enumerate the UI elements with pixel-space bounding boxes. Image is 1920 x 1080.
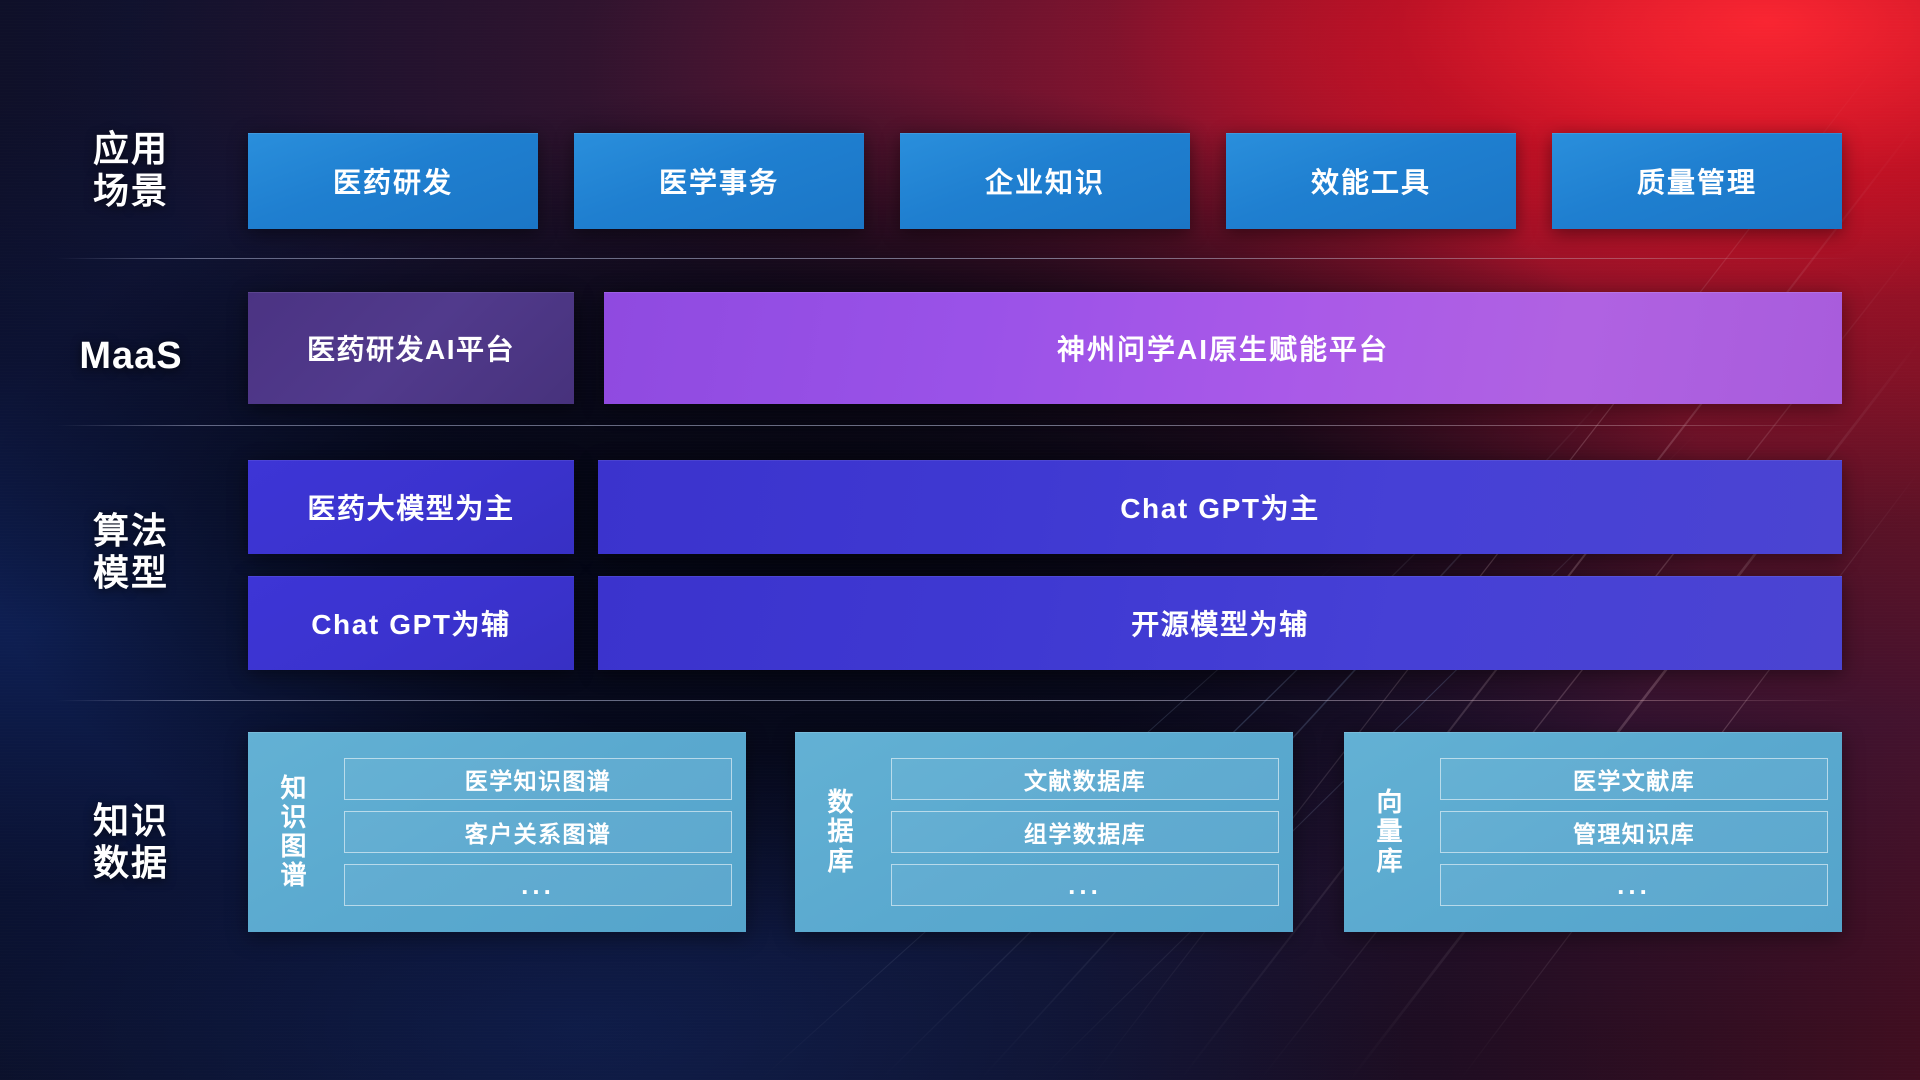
knowledge-panel-title-char: 库 — [1376, 847, 1403, 876]
maas-platform-label: 神州问学AI原生赋能平台 — [1057, 328, 1389, 368]
app-scenario-box[interactable]: 质量管理 — [1552, 133, 1842, 229]
divider-after-maas — [56, 425, 1856, 426]
knowledge-panel-title-char: 识 — [280, 803, 307, 832]
knowledge-panel[interactable]: 向 量 库 医学文献库 管理知识库 ... — [1344, 732, 1842, 932]
knowledge-panel-title-char: 向 — [1376, 788, 1403, 817]
row-label-line: 算法 — [56, 510, 206, 552]
knowledge-panel-title: 数 据 库 — [795, 732, 887, 932]
app-scenario-box[interactable]: 企业知识 — [900, 133, 1190, 229]
knowledge-panel-title-char: 量 — [1376, 817, 1403, 846]
knowledge-panel-items: 文献数据库 组学数据库 ... — [887, 732, 1293, 932]
knowledge-panel-title-char: 谱 — [280, 861, 307, 890]
row-label-application-scenarios: 应用 场景 — [56, 128, 206, 213]
row-label-line: 知识 — [56, 800, 206, 842]
knowledge-panel[interactable]: 数 据 库 文献数据库 组学数据库 ... — [795, 732, 1293, 932]
knowledge-panel-title-char: 库 — [827, 847, 854, 876]
maas-platform-label: 医药研发AI平台 — [307, 328, 515, 368]
app-scenario-label: 效能工具 — [1311, 161, 1431, 201]
knowledge-item[interactable]: 医学知识图谱 — [344, 758, 732, 800]
knowledge-panel-items: 医学文献库 管理知识库 ... — [1436, 732, 1842, 932]
knowledge-item[interactable]: 客户关系图谱 — [344, 811, 732, 853]
algorithm-box-secondary-right[interactable]: 开源模型为辅 — [598, 576, 1842, 670]
knowledge-panel[interactable]: 知 识 图 谱 医学知识图谱 客户关系图谱 ... — [248, 732, 746, 932]
knowledge-panel-title-char: 据 — [827, 817, 854, 846]
maas-platform-box-left[interactable]: 医药研发AI平台 — [248, 292, 574, 404]
row-label-knowledge-data: 知识 数据 — [56, 800, 206, 885]
algorithm-label: 医药大模型为主 — [307, 487, 514, 527]
app-scenario-label: 企业知识 — [985, 161, 1105, 201]
diagram-stage: 应用 场景 MaaS 算法 模型 知识 数据 医药研发 医学事务 企业知识 效能… — [0, 0, 1920, 1080]
knowledge-item-label: 管理知识库 — [1573, 815, 1695, 849]
knowledge-panel-title: 向 量 库 — [1344, 732, 1436, 932]
app-scenario-label: 医学事务 — [659, 161, 779, 201]
maas-platform-box-right[interactable]: 神州问学AI原生赋能平台 — [604, 292, 1842, 404]
algorithm-box-primary-left[interactable]: 医药大模型为主 — [248, 460, 574, 554]
algorithm-label: 开源模型为辅 — [1131, 603, 1309, 643]
knowledge-item-label: 医学文献库 — [1573, 762, 1695, 796]
app-scenario-label: 质量管理 — [1637, 161, 1757, 201]
app-scenario-box[interactable]: 医学事务 — [574, 133, 864, 229]
knowledge-item-more[interactable]: ... — [1440, 864, 1828, 906]
knowledge-item-label: ... — [1068, 870, 1102, 901]
app-scenario-label: 医药研发 — [333, 161, 453, 201]
algorithm-box-primary-right[interactable]: Chat GPT为主 — [598, 460, 1842, 554]
knowledge-item-label: ... — [1617, 870, 1651, 901]
row-label-line: MaaS — [56, 334, 206, 379]
knowledge-item[interactable]: 文献数据库 — [891, 758, 1279, 800]
knowledge-panel-items: 医学知识图谱 客户关系图谱 ... — [340, 732, 746, 932]
knowledge-item-more[interactable]: ... — [891, 864, 1279, 906]
knowledge-item-label: ... — [521, 870, 555, 901]
knowledge-item[interactable]: 组学数据库 — [891, 811, 1279, 853]
knowledge-item-label: 组学数据库 — [1024, 815, 1146, 849]
knowledge-panel-title-char: 知 — [280, 774, 307, 803]
knowledge-item-label: 医学知识图谱 — [465, 762, 611, 796]
row-label-maas: MaaS — [56, 334, 206, 379]
algorithm-label: Chat GPT为主 — [1120, 487, 1320, 527]
row-label-line: 模型 — [56, 552, 206, 594]
knowledge-item[interactable]: 管理知识库 — [1440, 811, 1828, 853]
row-label-line: 应用 — [56, 128, 206, 170]
knowledge-panel-title: 知 识 图 谱 — [248, 732, 340, 932]
app-scenario-box[interactable]: 效能工具 — [1226, 133, 1516, 229]
knowledge-item-label: 文献数据库 — [1024, 762, 1146, 796]
divider-after-applications — [56, 258, 1856, 259]
knowledge-item-label: 客户关系图谱 — [465, 815, 611, 849]
row-label-line: 数据 — [56, 842, 206, 884]
knowledge-item-more[interactable]: ... — [344, 864, 732, 906]
knowledge-panel-title-char: 数 — [827, 788, 854, 817]
divider-after-algorithms — [56, 700, 1856, 701]
row-label-algorithm-models: 算法 模型 — [56, 510, 206, 595]
row-label-line: 场景 — [56, 170, 206, 212]
app-scenario-box[interactable]: 医药研发 — [248, 133, 538, 229]
knowledge-item[interactable]: 医学文献库 — [1440, 758, 1828, 800]
algorithm-box-secondary-left[interactable]: Chat GPT为辅 — [248, 576, 574, 670]
knowledge-panel-title-char: 图 — [280, 832, 307, 861]
algorithm-label: Chat GPT为辅 — [311, 603, 511, 643]
